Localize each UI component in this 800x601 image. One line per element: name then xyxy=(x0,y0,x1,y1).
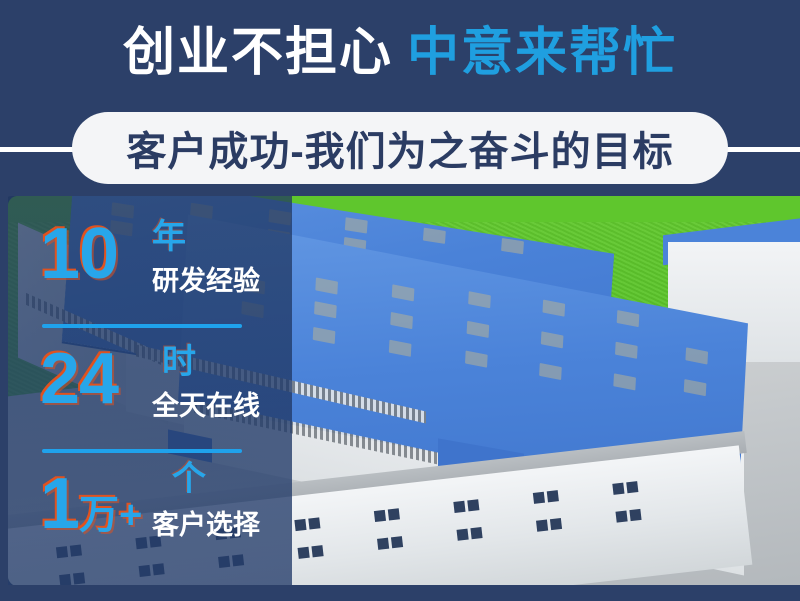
subtitle-row: 客户成功-我们为之奋斗的目标 xyxy=(0,112,800,184)
stat-description: 客户选择 xyxy=(152,510,260,540)
headline-primary: 创业不担心 xyxy=(123,24,393,82)
stats-panel: 10 年 研发经验 24 时 全天在线 1万+ 个 客户选择 xyxy=(0,196,292,586)
stat-divider xyxy=(42,449,242,453)
subtitle-text: 客户成功-我们为之奋斗的目标 xyxy=(126,119,673,177)
stat-unit: 时 xyxy=(162,345,196,379)
subtitle-pill: 客户成功-我们为之奋斗的目标 xyxy=(72,112,728,184)
stat-description: 研发经验 xyxy=(152,266,260,296)
stat-unit: 年 xyxy=(152,220,186,254)
stat-item: 1万+ 个 客户选择 xyxy=(0,464,292,582)
stat-number: 24 xyxy=(40,343,118,426)
frame-left xyxy=(0,196,8,601)
stat-number: 1万+ xyxy=(40,468,142,551)
stat-description: 全天在线 xyxy=(152,391,260,421)
headline: 创业不担心中意来帮忙 xyxy=(0,24,800,82)
promo-banner: 创业不担心中意来帮忙 客户成功-我们为之奋斗的目标 xyxy=(0,0,800,601)
stat-number: 10 xyxy=(40,218,118,301)
stat-unit: 个 xyxy=(172,462,206,496)
stat-item: 24 时 全天在线 xyxy=(0,339,292,457)
banner-header: 创业不担心中意来帮忙 客户成功-我们为之奋斗的目标 xyxy=(0,0,800,196)
stat-item: 10 年 研发经验 xyxy=(0,214,292,332)
frame-bottom xyxy=(0,585,800,601)
stat-divider xyxy=(42,324,242,328)
headline-secondary: 中意来帮忙 xyxy=(407,24,677,82)
